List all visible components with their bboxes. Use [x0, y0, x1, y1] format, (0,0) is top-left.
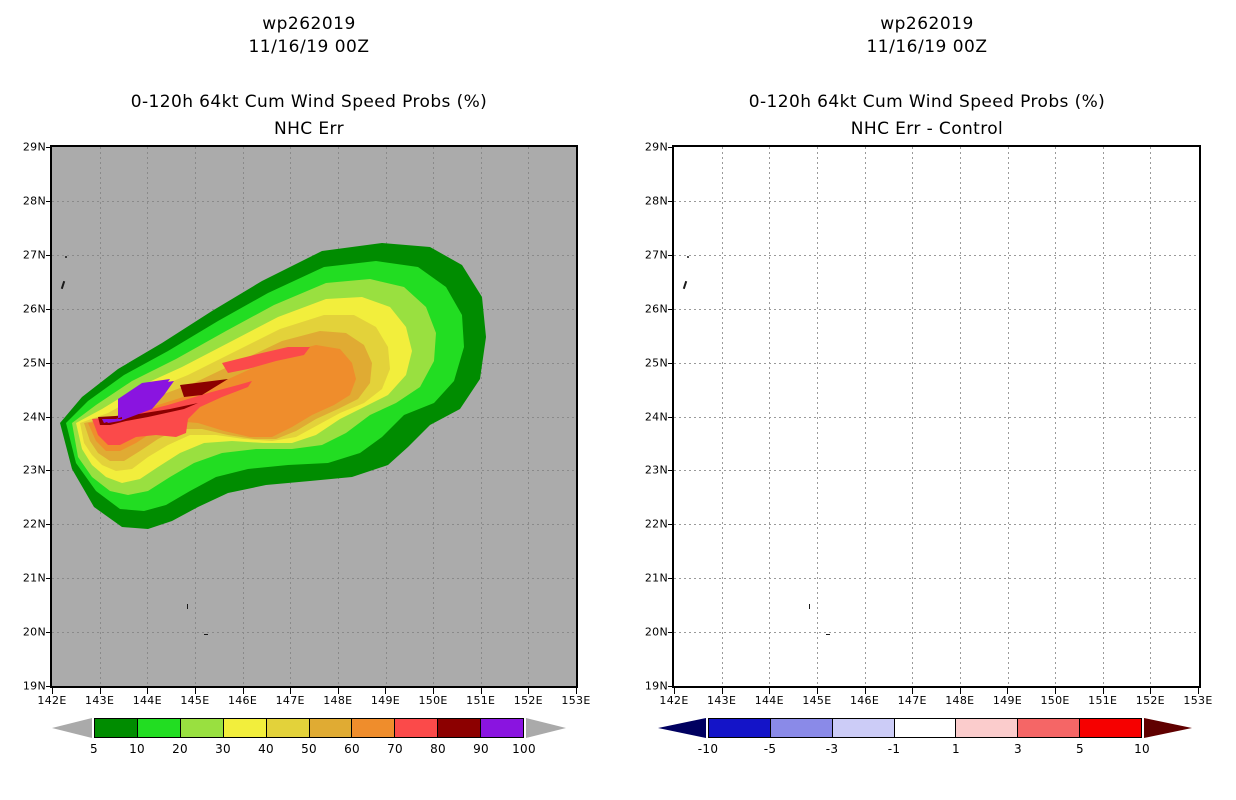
- right-storm-id: wp262019: [618, 14, 1236, 34]
- gridline-horizontal: [674, 470, 1199, 471]
- colorbar-swatches[interactable]: [708, 718, 1142, 738]
- x-axis-tick-mark: [528, 688, 529, 694]
- colorbar-swatch[interactable]: [181, 719, 224, 737]
- island-speck-c: [187, 604, 188, 609]
- colorbar-over-arrow: [1144, 718, 1192, 738]
- left-panel: wp262019 11/16/19 00Z 0-120h 64kt Cum Wi…: [0, 0, 618, 800]
- x-axis-tick-label: 147E: [898, 694, 927, 707]
- y-axis-tick-label: 26N: [638, 302, 668, 315]
- right-plot-area[interactable]: [672, 145, 1201, 688]
- colorbar-tick-label: -10: [698, 742, 719, 756]
- gridline-horizontal: [674, 309, 1199, 310]
- colorbar-swatches[interactable]: [94, 718, 524, 738]
- x-axis-tick-label: 145E: [180, 694, 209, 707]
- y-axis-tick-label: 23N: [16, 464, 46, 477]
- colorbar-tick-label: 40: [258, 742, 274, 756]
- colorbar-tick-label: 50: [301, 742, 317, 756]
- colorbar-tick-label: 60: [344, 742, 360, 756]
- gridline-horizontal: [674, 255, 1199, 256]
- x-axis-tick-label: 153E: [1183, 694, 1212, 707]
- x-axis-tick-label: 151E: [466, 694, 495, 707]
- colorbar-swatch[interactable]: [956, 719, 1018, 737]
- gridline-horizontal: [674, 363, 1199, 364]
- colorbar-tick-label: 70: [387, 742, 403, 756]
- colorbar-swatch[interactable]: [138, 719, 181, 737]
- left-storm-id: wp262019: [0, 14, 618, 34]
- x-axis-tick-label: 149E: [371, 694, 400, 707]
- colorbar-swatch[interactable]: [352, 719, 395, 737]
- colorbar-tick-label: 10: [1134, 742, 1150, 756]
- island-speck-d: [826, 634, 830, 635]
- x-axis-tick-mark: [722, 688, 723, 694]
- island-speck-d: [204, 634, 208, 635]
- x-axis-tick-label: 152E: [1136, 694, 1165, 707]
- x-axis-tick-mark: [290, 688, 291, 694]
- x-axis-tick-mark: [817, 688, 818, 694]
- colorbar-swatch[interactable]: [95, 719, 138, 737]
- x-axis-tick-mark: [865, 688, 866, 694]
- probability-contour-swath: [52, 147, 576, 686]
- probability-colorbar[interactable]: 5102030405060708090100: [52, 718, 566, 758]
- x-axis-tick-mark: [243, 688, 244, 694]
- colorbar-tick-label: -5: [764, 742, 777, 756]
- x-axis-tick-label: 146E: [850, 694, 879, 707]
- y-axis-tick-label: 29N: [638, 141, 668, 154]
- y-axis-tick-label: 26N: [16, 302, 46, 315]
- y-axis-tick-label: 24N: [638, 410, 668, 423]
- right-panel: wp262019 11/16/19 00Z 0-120h 64kt Cum Wi…: [618, 0, 1236, 800]
- island-speck-c: [809, 604, 810, 609]
- x-axis-tick-mark: [576, 688, 577, 694]
- x-axis-tick-label: 147E: [276, 694, 305, 707]
- x-axis-tick-mark: [100, 688, 101, 694]
- colorbar-tick-label: 10: [129, 742, 145, 756]
- left-chart-title: 0-120h 64kt Cum Wind Speed Probs (%): [0, 92, 618, 112]
- y-axis-tick-label: 20N: [16, 626, 46, 639]
- colorbar-swatch[interactable]: [709, 719, 771, 737]
- x-axis-tick-label: 148E: [323, 694, 352, 707]
- x-axis-tick-label: 148E: [945, 694, 974, 707]
- colorbar-under-arrow: [658, 718, 706, 738]
- x-axis-tick-mark: [52, 688, 53, 694]
- colorbar-swatch[interactable]: [224, 719, 267, 737]
- y-axis-tick-label: 27N: [638, 248, 668, 261]
- y-axis-tick-label: 28N: [16, 194, 46, 207]
- y-axis-tick-label: 22N: [638, 518, 668, 531]
- y-axis-tick-label: 23N: [638, 464, 668, 477]
- x-axis-tick-label: 146E: [228, 694, 257, 707]
- colorbar-tick-label: 100: [512, 742, 536, 756]
- y-axis-tick-label: 21N: [16, 572, 46, 585]
- colorbar-swatch[interactable]: [1080, 719, 1141, 737]
- colorbar-tick-label: 80: [430, 742, 446, 756]
- colorbar-swatch[interactable]: [395, 719, 438, 737]
- colorbar-swatch[interactable]: [895, 719, 957, 737]
- y-axis-tick-label: 28N: [638, 194, 668, 207]
- x-axis-tick-label: 150E: [1041, 694, 1070, 707]
- x-axis-tick-mark: [195, 688, 196, 694]
- x-axis-tick-label: 144E: [755, 694, 784, 707]
- colorbar-tick-label: 1: [952, 742, 960, 756]
- x-axis-tick-mark: [1007, 688, 1008, 694]
- x-axis-tick-label: 143E: [85, 694, 114, 707]
- x-axis-tick-mark: [147, 688, 148, 694]
- y-axis-tick-label: 29N: [16, 141, 46, 154]
- colorbar-tick-label: 30: [215, 742, 231, 756]
- gridline-horizontal: [674, 417, 1199, 418]
- colorbar-under-arrow: [52, 718, 92, 738]
- x-axis-tick-label: 142E: [659, 694, 688, 707]
- x-axis-tick-mark: [1103, 688, 1104, 694]
- left-datetime: 11/16/19 00Z: [0, 37, 618, 57]
- colorbar-tick-label: 20: [172, 742, 188, 756]
- colorbar-over-arrow: [526, 718, 566, 738]
- island-speck-a: [687, 256, 689, 258]
- y-axis-tick-label: 25N: [638, 356, 668, 369]
- y-axis-tick-label: 20N: [638, 626, 668, 639]
- x-axis-tick-mark: [1055, 688, 1056, 694]
- x-axis-tick-label: 152E: [514, 694, 543, 707]
- y-axis-tick-label: 22N: [16, 518, 46, 531]
- gridline-horizontal: [674, 524, 1199, 525]
- x-axis-tick-mark: [960, 688, 961, 694]
- x-axis-tick-mark: [674, 688, 675, 694]
- gridline-horizontal: [674, 201, 1199, 202]
- x-axis-tick-label: 153E: [561, 694, 590, 707]
- colorbar-tick-label: 5: [90, 742, 98, 756]
- colorbar-swatch[interactable]: [310, 719, 353, 737]
- colorbar-swatch[interactable]: [771, 719, 833, 737]
- right-chart-title: 0-120h 64kt Cum Wind Speed Probs (%): [618, 92, 1236, 112]
- right-chart-subtitle: NHC Err - Control: [618, 119, 1236, 139]
- x-axis-tick-mark: [769, 688, 770, 694]
- y-axis-tick-label: 25N: [16, 356, 46, 369]
- x-axis-tick-label: 143E: [707, 694, 736, 707]
- y-axis-tick-label: 19N: [16, 680, 46, 693]
- colorbar-tick-label: 5: [1076, 742, 1084, 756]
- x-axis-tick-label: 144E: [133, 694, 162, 707]
- island-speck-b: [683, 281, 687, 289]
- gridline-horizontal: [674, 578, 1199, 579]
- colorbar-tick-label: 90: [473, 742, 489, 756]
- y-axis-tick-label: 19N: [638, 680, 668, 693]
- x-axis-tick-mark: [912, 688, 913, 694]
- difference-colorbar[interactable]: -10-5-3-113510: [658, 718, 1192, 758]
- x-axis-tick-label: 151E: [1088, 694, 1117, 707]
- x-axis-tick-label: 150E: [419, 694, 448, 707]
- x-axis-tick-mark: [338, 688, 339, 694]
- x-axis-tick-mark: [1198, 688, 1199, 694]
- y-axis-tick-label: 27N: [16, 248, 46, 261]
- left-plot-area[interactable]: [50, 145, 578, 688]
- colorbar-tick-label: 3: [1014, 742, 1022, 756]
- y-axis-tick-label: 21N: [638, 572, 668, 585]
- right-datetime: 11/16/19 00Z: [618, 37, 1236, 57]
- gridline-horizontal: [674, 632, 1199, 633]
- colorbar-tick-label: -3: [826, 742, 839, 756]
- x-axis-tick-label: 142E: [37, 694, 66, 707]
- x-axis-tick-mark: [1150, 688, 1151, 694]
- x-axis-tick-mark: [481, 688, 482, 694]
- left-chart-subtitle: NHC Err: [0, 119, 618, 139]
- colorbar-swatch[interactable]: [833, 719, 895, 737]
- x-axis-tick-label: 149E: [993, 694, 1022, 707]
- island-speck-a: [65, 256, 67, 258]
- colorbar-swatch[interactable]: [267, 719, 310, 737]
- x-axis-tick-label: 145E: [802, 694, 831, 707]
- x-axis-tick-mark: [385, 688, 386, 694]
- colorbar-swatch[interactable]: [1018, 719, 1080, 737]
- colorbar-swatch[interactable]: [481, 719, 523, 737]
- colorbar-tick-label: -1: [888, 742, 901, 756]
- y-axis-tick-label: 24N: [16, 410, 46, 423]
- colorbar-swatch[interactable]: [438, 719, 481, 737]
- x-axis-tick-mark: [433, 688, 434, 694]
